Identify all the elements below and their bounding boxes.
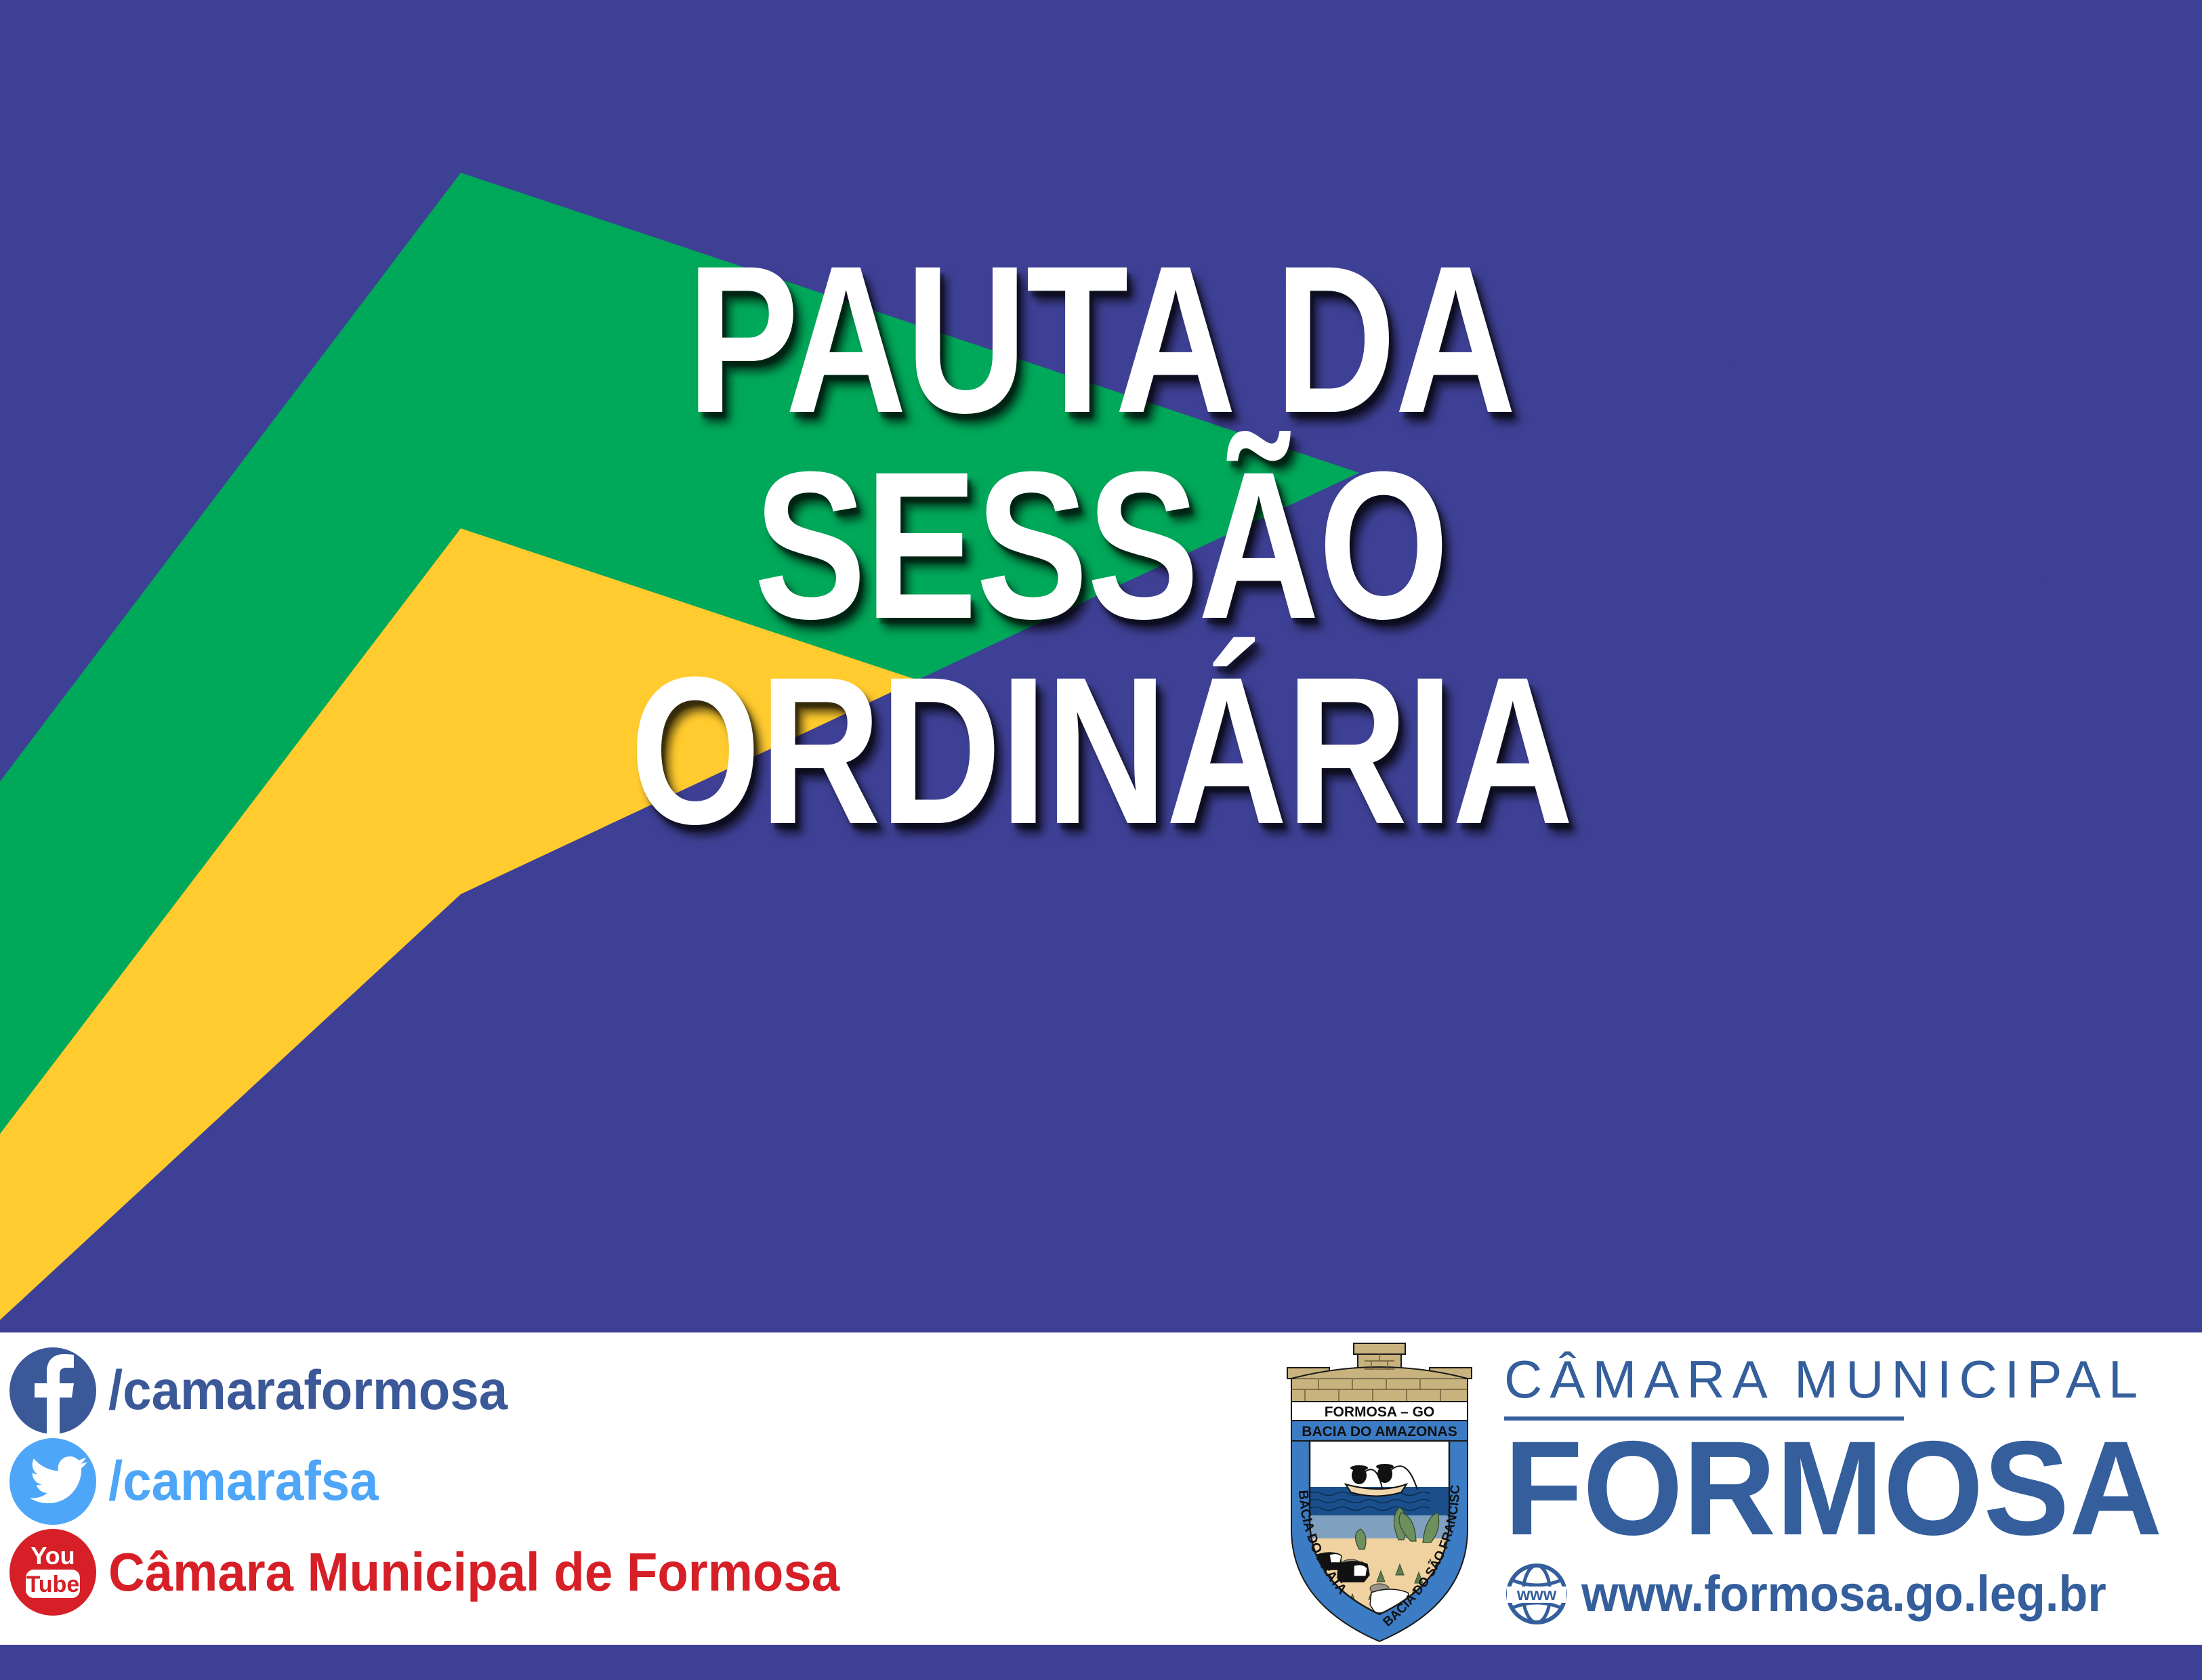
- facebook-handle: /camaraformosa: [108, 1363, 507, 1419]
- svg-text:Tube: Tube: [26, 1572, 80, 1597]
- bottom-accent-bar: [0, 1645, 2202, 1680]
- coat-of-arms: FORMOSA – GO BACIA DO AMAZONAS: [1278, 1337, 1481, 1645]
- social-row-youtube[interactable]: You Tube Câmara Municipal de Formosa: [9, 1529, 894, 1616]
- camara-municipal-label: CÂMARA MUNICIPAL: [1504, 1353, 2190, 1406]
- globe-www-icon: www: [1504, 1561, 1569, 1626]
- website-line[interactable]: www www.formosa.go.leg.br: [1504, 1561, 2190, 1626]
- social-row-facebook[interactable]: /camaraformosa: [9, 1347, 894, 1434]
- crest-city-label: FORMOSA – GO: [1325, 1404, 1435, 1420]
- brand-block: FORMOSA – GO BACIA DO AMAZONAS: [1278, 1337, 2190, 1645]
- formosa-wordmark: FORMOSA: [1504, 1425, 2162, 1552]
- facebook-icon[interactable]: [9, 1347, 96, 1434]
- youtube-icon[interactable]: You Tube: [9, 1529, 96, 1616]
- svg-text:You: You: [30, 1542, 75, 1570]
- globe-www-text: www: [1516, 1585, 1557, 1604]
- social-row-twitter[interactable]: /camarafsa: [9, 1438, 894, 1525]
- flag-chevrons: [0, 0, 2202, 1332]
- flag-background: [0, 0, 2202, 1332]
- social-links: /camaraformosa /camarafsa You Tube: [9, 1347, 894, 1620]
- twitter-handle: /camarafsa: [108, 1454, 379, 1509]
- brand-text-block: CÂMARA MUNICIPAL FORMOSA www: [1504, 1337, 2190, 1626]
- youtube-channel-name: Câmara Municipal de Formosa: [108, 1545, 839, 1599]
- crest-basin-top-label: BACIA DO AMAZONAS: [1302, 1424, 1457, 1440]
- poster-root: PAUTA DA SESSÃO ORDINÁRIA /camaraformosa: [0, 0, 2202, 1680]
- website-url[interactable]: www.formosa.go.leg.br: [1581, 1569, 2106, 1619]
- footer-bar: /camaraformosa /camarafsa You Tube: [0, 1332, 2202, 1645]
- twitter-icon[interactable]: [9, 1438, 96, 1525]
